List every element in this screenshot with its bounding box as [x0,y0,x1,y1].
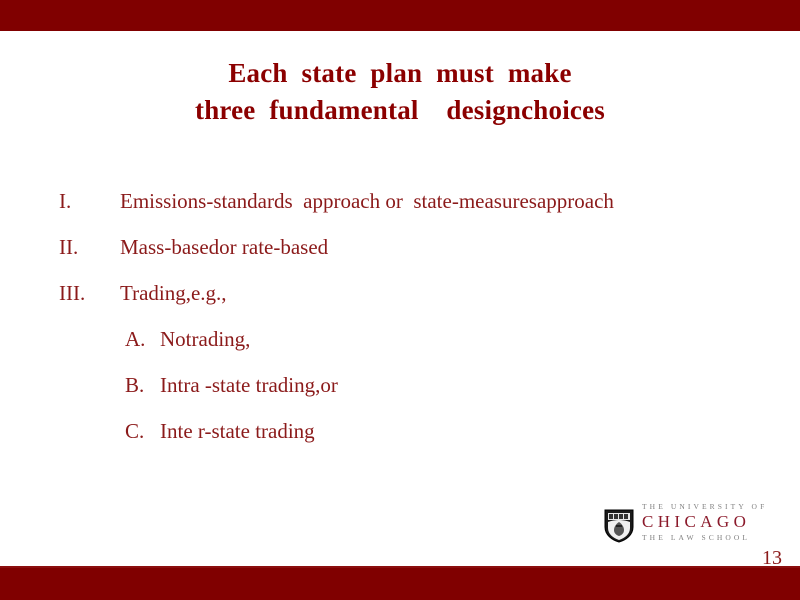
list-item-text: Notrading, [160,327,250,351]
slide-title-line-1: Each state plan must make [40,55,760,92]
outline-list: I. Emissions-standards approach or state… [0,186,800,462]
list-item-marker: B. [125,373,159,397]
slide-title-line-2: three fundamental designchoices [40,92,760,129]
top-accent-bar [0,0,800,31]
logo-line-university: THE UNIVERSITY OF [642,501,784,512]
university-of-chicago-law-school-logo: THE UNIVERSITY OF CHICAGO THE LAW SCHOOL [604,501,784,547]
list-item-marker: III. [59,281,115,305]
page-number: 13 [740,548,782,568]
logo-line-law-school: THE LAW SCHOOL [642,532,784,544]
list-item-marker: II. [59,235,115,259]
list-item: I. Emissions-standards approach or state… [0,186,800,232]
list-item-marker: A. [125,327,159,351]
list-item-text: Emissions-standards approach or state-me… [120,189,614,213]
list-item: A. Notrading, [0,324,800,370]
list-item: C. Inte r-state trading [0,416,800,462]
list-item: B. Intra -state trading,or [0,370,800,416]
list-item: II. Mass-basedor rate-based [0,232,800,278]
slide-title: Each state plan must make three fundamen… [40,55,760,129]
list-item-text: Intra -state trading,or [160,373,338,397]
list-item-text: Inte r-state trading [160,419,315,443]
list-item: III. Trading,e.g., [0,278,800,324]
list-item-marker: C. [125,419,159,443]
list-item-marker: I. [59,189,115,213]
bottom-accent-bar [0,568,800,600]
slide-canvas: Each state plan must make three fundamen… [0,0,800,600]
list-item-text: Trading,e.g., [120,281,227,305]
logo-wordmark: THE UNIVERSITY OF CHICAGO THE LAW SCHOOL [642,501,784,544]
list-item-text: Mass-basedor rate-based [120,235,328,259]
shield-crest-icon [604,509,634,543]
logo-line-chicago: CHICAGO [642,512,784,532]
